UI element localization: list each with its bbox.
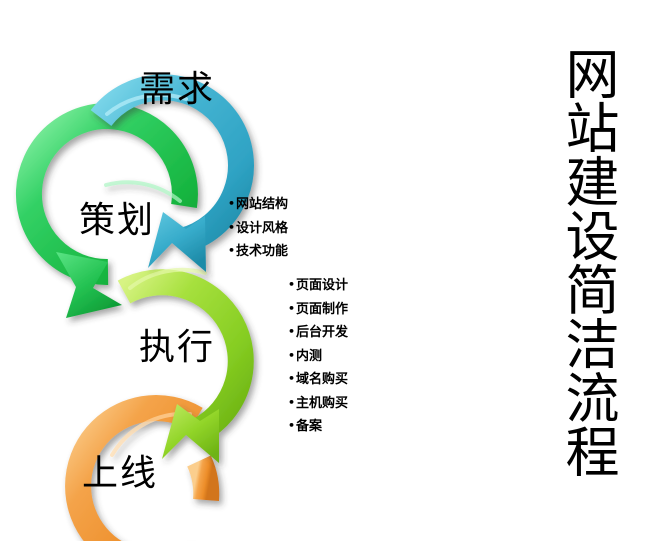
list-item: 页面制作 <box>288 298 348 322</box>
slide-canvas: 需求 策划 执行 上线 网站结构 设计风格 技术功能 页面设计 页面制作 后台开… <box>0 0 655 541</box>
page-title: 网站建设简洁流程 <box>560 46 613 478</box>
stage-label-launch: 上线 <box>82 456 158 492</box>
list-item: 备案 <box>288 415 348 439</box>
list-item: 后台开发 <box>288 321 348 345</box>
bullet-list-execution: 页面设计 页面制作 后台开发 内测 域名购买 主机购买 备案 <box>288 274 348 439</box>
arrow-head-icon <box>56 252 122 318</box>
stage-label-requirement: 需求 <box>139 72 215 108</box>
list-item: 主机购买 <box>288 392 348 416</box>
stage-label-execution: 执行 <box>139 330 215 366</box>
list-item: 域名购买 <box>288 368 348 392</box>
list-item: 设计风格 <box>228 217 288 241</box>
bullet-list-planning: 网站结构 设计风格 技术功能 <box>228 193 288 264</box>
stage-label-planning: 策划 <box>79 203 155 239</box>
list-item: 内测 <box>288 345 348 369</box>
list-item: 网站结构 <box>228 193 288 217</box>
list-item: 技术功能 <box>228 240 288 264</box>
list-item: 页面设计 <box>288 274 348 298</box>
